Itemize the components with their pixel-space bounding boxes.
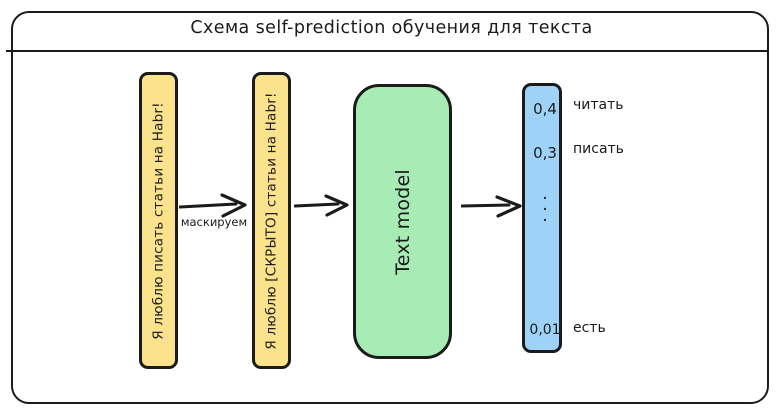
arrow-mask-caption: маскируем	[179, 215, 249, 229]
prob-word-1: писать	[573, 141, 624, 157]
node-input-text: Я люблю писать статьи на Habr!	[139, 72, 178, 369]
diagram-canvas: Схема self-prediction обучения для текст…	[0, 0, 783, 416]
node-input-text-label: Я люблю писать статьи на Habr!	[151, 102, 167, 339]
node-masked-text-label: Я люблю [СКРЫТО] статьи на Habr!	[264, 92, 280, 349]
page-title: Схема self-prediction обучения для текст…	[0, 18, 783, 38]
node-text-model: Text model	[353, 84, 452, 359]
prob-value-0: 0,4	[525, 100, 565, 118]
arrow-masked-to-model	[294, 194, 350, 220]
arrow-model-to-probs	[461, 195, 523, 221]
prob-value-1: 0,3	[525, 144, 565, 162]
frame-title-divider	[6, 50, 767, 52]
node-text-model-label: Text model	[392, 169, 414, 275]
prob-ellipsis-dot-3: ·	[525, 216, 565, 227]
prob-ellipsis: · · ·	[525, 194, 565, 227]
node-probability-vector: 0,4 0,3 · · · 0,01	[522, 83, 562, 353]
prob-word-2: есть	[573, 320, 606, 336]
prob-word-0: читать	[573, 97, 624, 113]
node-masked-text: Я люблю [СКРЫТО] статьи на Habr!	[252, 72, 291, 369]
prob-value-2: 0,01	[525, 322, 565, 338]
